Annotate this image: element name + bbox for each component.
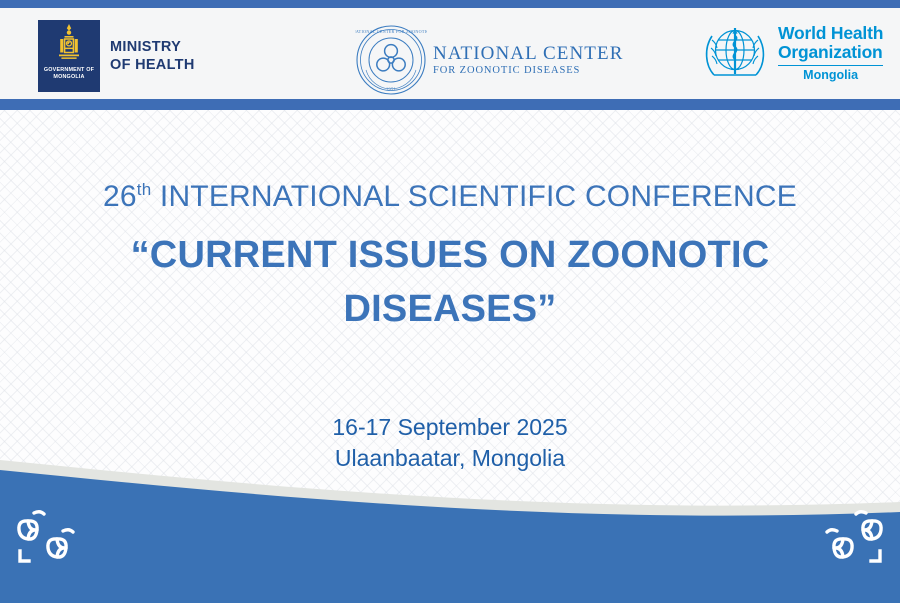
conference-edition-line: 26th INTERNATIONAL SCIENTIFIC CONFERENCE — [0, 178, 900, 216]
conference-title-slide: GOVERNMENT OF MONGOLIA MINISTRY OF HEALT… — [0, 0, 900, 603]
mongolian-knot-ornament-right-icon — [810, 507, 886, 569]
ministry-name-line1: MINISTRY — [110, 38, 195, 56]
ministry-name: MINISTRY OF HEALTH — [110, 38, 195, 74]
who-name-line2: Organization — [778, 43, 883, 62]
who-mongolia-logo: World Health Organization Mongolia — [700, 20, 883, 86]
who-divider-rule — [778, 65, 883, 67]
nczd-name-line1: NATIONAL CENTER — [433, 43, 623, 64]
nczd-name-line2: FOR ZOONOTIC DISEASES — [433, 64, 623, 77]
emblem-caption-line2: MONGOLIA — [53, 74, 84, 80]
svg-text:NATIONAL CENTER FOR ZOONOTIC: NATIONAL CENTER FOR ZOONOTIC — [355, 29, 427, 34]
event-dates: 16-17 September 2025 — [0, 412, 900, 443]
ministry-name-line2: OF HEALTH — [110, 56, 195, 74]
who-country-label: Mongolia — [778, 68, 883, 82]
nczd-name: NATIONAL CENTER FOR ZOONOTIC DISEASES — [433, 43, 623, 77]
mongolia-state-emblem-icon: GOVERNMENT OF MONGOLIA — [38, 20, 100, 92]
conference-number: 26 — [103, 180, 137, 213]
top-accent-bar — [0, 0, 900, 8]
emblem-caption: GOVERNMENT OF MONGOLIA — [44, 67, 94, 81]
conference-theme-title: “CURRENT ISSUES ON ZOONOTIC DISEASES” — [50, 228, 850, 336]
mongolian-knot-ornament-left-icon — [14, 507, 90, 569]
conference-ordinal-suffix: th — [137, 180, 152, 199]
emblem-caption-line1: GOVERNMENT OF — [44, 67, 94, 73]
header-divider-bar — [0, 99, 900, 110]
ministry-of-health-logo: GOVERNMENT OF MONGOLIA MINISTRY OF HEALT… — [38, 20, 195, 92]
national-center-zoonotic-diseases-logo: NATIONAL CENTER FOR ZOONOTIC 1951 NATION… — [355, 24, 623, 96]
zoonotic-seal-icon: NATIONAL CENTER FOR ZOONOTIC 1951 — [355, 24, 427, 96]
soyombo-symbol-icon — [54, 23, 84, 65]
who-name-block: World Health Organization Mongolia — [778, 24, 883, 83]
bottom-wave-decoration — [0, 458, 900, 603]
conference-line-text: INTERNATIONAL SCIENTIFIC CONFERENCE — [151, 180, 797, 213]
who-emblem-icon — [700, 20, 770, 86]
who-name-line1: World Health — [778, 24, 883, 43]
